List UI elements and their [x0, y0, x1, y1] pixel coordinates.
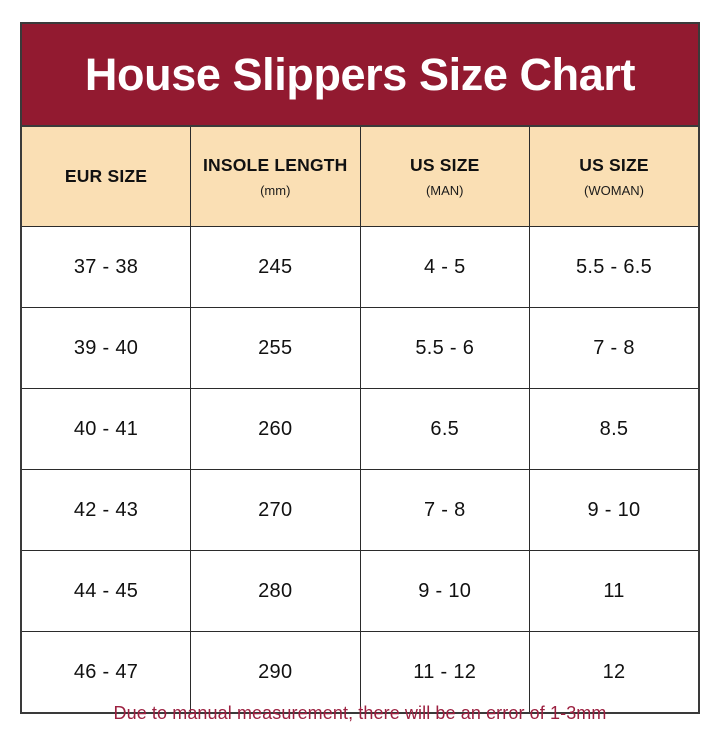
measurement-disclaimer: Due to manual measurement, there will be…: [20, 703, 700, 724]
cell-us-size-woman: 8.5: [530, 389, 700, 470]
table-row: 40 - 41 260 6.5 8.5: [21, 389, 699, 470]
cell-eur-size: 40 - 41: [21, 389, 191, 470]
column-header-label: EUR SIZE: [26, 166, 186, 186]
table-body: 37 - 38 245 4 - 5 5.5 - 6.5 39 - 40 255 …: [21, 227, 699, 714]
cell-eur-size: 37 - 38: [21, 227, 191, 308]
cell-us-size-woman: 12: [530, 632, 700, 714]
size-chart-table: House Slippers Size Chart EUR SIZE INSOL…: [20, 22, 700, 714]
table-row: 42 - 43 270 7 - 8 9 - 10: [21, 470, 699, 551]
column-header-insole-length: INSOLE LENGTH (mm): [191, 126, 361, 227]
table-head: House Slippers Size Chart EUR SIZE INSOL…: [21, 23, 699, 227]
cell-insole-length: 270: [191, 470, 361, 551]
cell-insole-length: 255: [191, 308, 361, 389]
page-title: House Slippers Size Chart: [85, 49, 635, 100]
cell-insole-length: 260: [191, 389, 361, 470]
cell-eur-size: 39 - 40: [21, 308, 191, 389]
table-row: 39 - 40 255 5.5 - 6 7 - 8: [21, 308, 699, 389]
column-header-label: US SIZE: [534, 155, 694, 175]
cell-us-size-woman: 7 - 8: [530, 308, 700, 389]
cell-insole-length: 245: [191, 227, 361, 308]
column-header-eur-size: EUR SIZE: [21, 126, 191, 227]
chart-title-cell: House Slippers Size Chart: [21, 23, 699, 126]
cell-eur-size: 44 - 45: [21, 551, 191, 632]
cell-insole-length: 290: [191, 632, 361, 714]
cell-eur-size: 42 - 43: [21, 470, 191, 551]
size-chart-page: House Slippers Size Chart EUR SIZE INSOL…: [0, 0, 720, 746]
table-row: 37 - 38 245 4 - 5 5.5 - 6.5: [21, 227, 699, 308]
cell-eur-size: 46 - 47: [21, 632, 191, 714]
column-header-sublabel: (MAN): [365, 184, 526, 198]
cell-insole-length: 280: [191, 551, 361, 632]
cell-us-size-woman: 9 - 10: [530, 470, 700, 551]
column-header-label: US SIZE: [365, 155, 526, 175]
title-banner-row: House Slippers Size Chart: [21, 23, 699, 126]
column-header-label: INSOLE LENGTH: [195, 155, 356, 175]
cell-us-size-man: 5.5 - 6: [360, 308, 530, 389]
column-header-row: EUR SIZE INSOLE LENGTH (mm) US SIZE (MAN…: [21, 126, 699, 227]
column-header-sublabel: (mm): [195, 184, 356, 198]
cell-us-size-man: 4 - 5: [360, 227, 530, 308]
column-header-sublabel: (WOMAN): [534, 184, 694, 198]
table-row: 46 - 47 290 11 - 12 12: [21, 632, 699, 714]
cell-us-size-man: 6.5: [360, 389, 530, 470]
table-row: 44 - 45 280 9 - 10 11: [21, 551, 699, 632]
column-header-us-size-woman: US SIZE (WOMAN): [530, 126, 700, 227]
cell-us-size-woman: 11: [530, 551, 700, 632]
cell-us-size-woman: 5.5 - 6.5: [530, 227, 700, 308]
cell-us-size-man: 9 - 10: [360, 551, 530, 632]
column-header-us-size-man: US SIZE (MAN): [360, 126, 530, 227]
cell-us-size-man: 7 - 8: [360, 470, 530, 551]
cell-us-size-man: 11 - 12: [360, 632, 530, 714]
